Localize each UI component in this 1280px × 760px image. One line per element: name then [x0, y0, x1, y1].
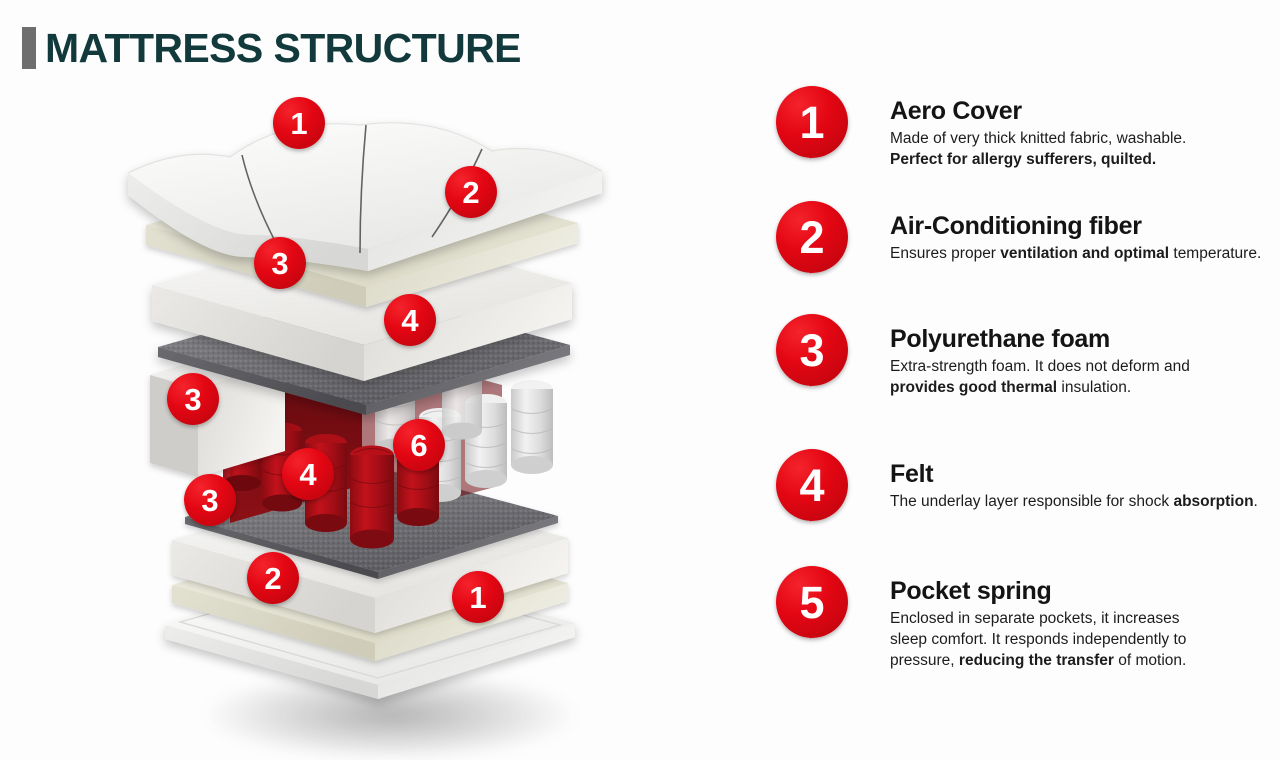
legend-pin-wrap-2: 2: [770, 201, 890, 297]
legend-list: 1 Aero Cover Made of very thick knitted …: [770, 86, 1270, 686]
callout-pin-4-felt-bottom[interactable]: 4: [282, 448, 334, 500]
title-accent-bar: [22, 27, 36, 69]
callout-pin-3-foam-bottom[interactable]: 3: [184, 474, 236, 526]
callout-pin-6-pocket-spring[interactable]: 6: [393, 419, 445, 471]
legend-title-2: Air-Conditioning fiber: [890, 211, 1261, 241]
legend-desc-4: The underlay layer responsible for shock…: [890, 491, 1258, 512]
legend-title-3: Polyurethane foam: [890, 324, 1190, 354]
legend-pin-2[interactable]: 2: [776, 201, 848, 273]
legend-body-3: Polyurethane foam Extra-strength foam. I…: [890, 314, 1190, 398]
legend-desc-3: Extra-strength foam. It does not deform …: [890, 356, 1190, 398]
callout-pin-1-aero-cover-bottom[interactable]: 1: [452, 571, 504, 623]
legend-desc-1: Made of very thick knitted fabric, washa…: [890, 128, 1186, 170]
legend-title-4: Felt: [890, 459, 1258, 489]
legend-item-pocket-spring: 5 Pocket spring Enclosed in separate poc…: [770, 566, 1270, 686]
callout-pin-3-foam-side-rail[interactable]: 3: [167, 373, 219, 425]
legend-pin-1[interactable]: 1: [776, 86, 848, 158]
callout-pin-3-foam-top[interactable]: 3: [254, 237, 306, 289]
callout-pin-2-fiber-bottom[interactable]: 2: [247, 552, 299, 604]
legend-pin-3[interactable]: 3: [776, 314, 848, 386]
legend-pin-4[interactable]: 4: [776, 449, 848, 521]
legend-body-2: Air-Conditioning fiber Ensures proper ve…: [890, 201, 1261, 264]
page-title: MATTRESS STRUCTURE: [22, 27, 521, 69]
mattress-exploded-illustration: 1 2 3 4 3 4 6 3 2 1: [110, 85, 630, 715]
page-title-text: MATTRESS STRUCTURE: [45, 27, 521, 69]
legend-pin-wrap-1: 1: [770, 86, 890, 182]
legend-item-air-conditioning-fiber: 2 Air-Conditioning fiber Ensures proper …: [770, 201, 1270, 314]
legend-pin-5[interactable]: 5: [776, 566, 848, 638]
legend-body-1: Aero Cover Made of very thick knitted fa…: [890, 86, 1186, 170]
legend-body-4: Felt The underlay layer responsible for …: [890, 449, 1258, 512]
legend-desc-2: Ensures proper ventilation and optimal t…: [890, 243, 1261, 264]
legend-item-aero-cover: 1 Aero Cover Made of very thick knitted …: [770, 86, 1270, 201]
callout-pin-4-felt-top[interactable]: 4: [384, 294, 436, 346]
legend-body-5: Pocket spring Enclosed in separate pocke…: [890, 566, 1186, 671]
legend-pin-wrap-5: 5: [770, 566, 890, 662]
legend-title-5: Pocket spring: [890, 576, 1186, 606]
callout-pin-1-aero-cover-top[interactable]: 1: [273, 97, 325, 149]
legend-item-polyurethane-foam: 3 Polyurethane foam Extra-strength foam.…: [770, 314, 1270, 449]
legend-pin-wrap-3: 3: [770, 314, 890, 410]
legend-item-felt: 4 Felt The underlay layer responsible fo…: [770, 449, 1270, 566]
legend-pin-wrap-4: 4: [770, 449, 890, 545]
legend-title-1: Aero Cover: [890, 96, 1186, 126]
infographic-page: MATTRESS STRUCTURE: [0, 0, 1280, 743]
legend-desc-5: Enclosed in separate pockets, it increas…: [890, 608, 1186, 671]
callout-pin-2-fiber-top[interactable]: 2: [445, 166, 497, 218]
